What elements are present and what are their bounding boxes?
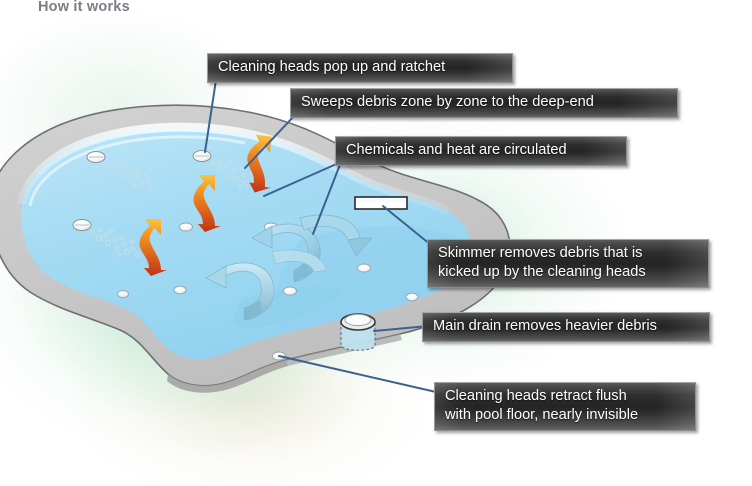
cleaning-head bbox=[87, 152, 105, 163]
skimmer bbox=[355, 197, 407, 209]
diagram-canvas: How it works bbox=[0, 0, 752, 486]
cleaning-head bbox=[118, 291, 129, 298]
cleaning-head bbox=[406, 293, 418, 301]
callout-main-drain[interactable]: Main drain removes heavier debris bbox=[422, 312, 710, 342]
callout-sweeps-debris[interactable]: Sweeps debris zone by zone to the deep-e… bbox=[290, 88, 678, 118]
cleaning-head bbox=[73, 220, 91, 231]
connector-heads-retract bbox=[279, 356, 436, 392]
callout-skimmer[interactable]: Skimmer removes debris that is kicked up… bbox=[427, 239, 709, 288]
cleaning-head bbox=[174, 286, 186, 294]
main-drain bbox=[341, 314, 375, 350]
callout-chemicals-heat[interactable]: Chemicals and heat are circulated bbox=[335, 136, 627, 166]
cleaning-head bbox=[180, 223, 193, 231]
cleaning-head bbox=[358, 264, 371, 272]
callout-heads-retract[interactable]: Cleaning heads retract flush with pool f… bbox=[434, 382, 696, 431]
cleaning-head bbox=[193, 151, 211, 162]
cleaning-head bbox=[284, 287, 297, 295]
callout-cleaning-heads-popup[interactable]: Cleaning heads pop up and ratchet bbox=[207, 53, 513, 83]
